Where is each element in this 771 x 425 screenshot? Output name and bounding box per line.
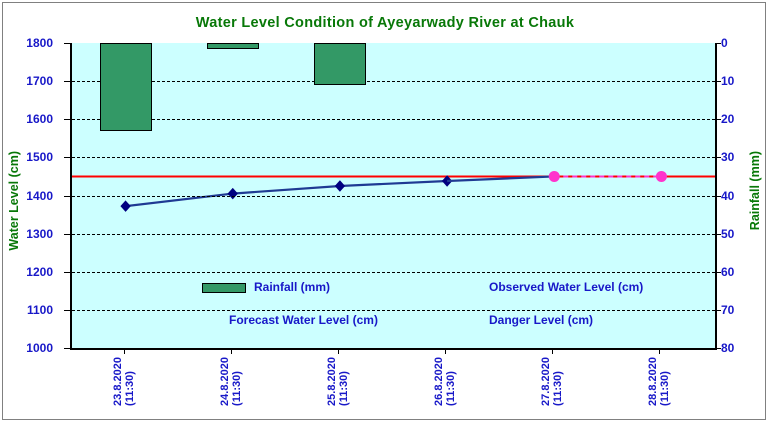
chart-title: Water Level Condition of Ayeyarwady Rive… (3, 15, 767, 31)
x-axis-tick-date: 27.8.2020 (540, 357, 552, 406)
right-axis-tick-label: 80 (721, 341, 755, 355)
observed-data-point-marker (335, 181, 344, 191)
gridline (72, 196, 715, 197)
x-axis-tick-label: 28.8.2020(11:30) (647, 357, 671, 406)
observed-data-point-marker (121, 201, 130, 211)
left-axis-tick-label: 1000 (5, 341, 53, 355)
forecast-data-point-marker (549, 171, 560, 182)
right-axis-tick-label: 40 (721, 189, 755, 203)
x-axis-tick-date: 23.8.2020 (112, 357, 124, 406)
gridline (72, 310, 715, 311)
x-axis-tick-time: (11:30) (338, 357, 350, 406)
rainfall-bar (207, 43, 259, 49)
gridline (72, 234, 715, 235)
right-axis-tick-label: 70 (721, 303, 755, 317)
right-axis-tick-label: 10 (721, 74, 755, 88)
left-axis-tick-label: 1200 (5, 265, 53, 279)
right-axis-tick-label: 0 (721, 36, 755, 50)
x-axis-tick-time: (11:30) (445, 357, 457, 406)
x-axis-tick-date: 25.8.2020 (326, 357, 338, 406)
forecast-data-point-marker (656, 171, 667, 182)
x-axis-tick-time: (11:30) (231, 357, 243, 406)
left-axis-tick-label: 1700 (5, 74, 53, 88)
plot-inner: Rainfall (mm)Observed Water Level (cm)Fo… (72, 43, 715, 348)
gridline (72, 272, 715, 273)
x-axis-tick-label: 23.8.2020(11:30) (112, 357, 136, 406)
left-axis-tick-label: 1800 (5, 36, 53, 50)
x-axis-tick-label: 26.8.2020(11:30) (433, 357, 457, 406)
x-axis-tick-time: (11:30) (124, 357, 136, 406)
left-axis-tick-label: 1500 (5, 150, 53, 164)
legend-swatch-rainfall-bar (202, 283, 246, 293)
plot-area: Rainfall (mm)Observed Water Level (cm)Fo… (70, 43, 717, 350)
chart-frame: Water Level Condition of Ayeyarwady Rive… (2, 2, 766, 420)
rainfall-bar (314, 43, 366, 85)
gridline (72, 119, 715, 120)
gridline (72, 157, 715, 158)
observed-water-level-line (126, 181, 448, 206)
gridline (72, 81, 715, 82)
left-axis-tick-label: 1300 (5, 227, 53, 241)
x-axis-tick-date: 28.8.2020 (647, 357, 659, 406)
x-axis-tick-date: 24.8.2020 (219, 357, 231, 406)
left-axis-tick-label: 1400 (5, 189, 53, 203)
legend-item-label: Forecast Water Level (cm) (229, 313, 378, 327)
left-axis-tick-label: 1600 (5, 112, 53, 126)
legend-item-label: Observed Water Level (cm) (489, 280, 643, 294)
x-axis-tick-label: 25.8.2020(11:30) (326, 357, 350, 406)
rainfall-bar (100, 43, 152, 131)
x-axis-tick-label: 27.8.2020(11:30) (540, 357, 564, 406)
right-axis-tick-label: 20 (721, 112, 755, 126)
legend-item-label: Rainfall (mm) (254, 280, 330, 294)
x-axis-tick-label: 24.8.2020(11:30) (219, 357, 243, 406)
right-axis-tick-label: 50 (721, 227, 755, 241)
right-axis-tick-label: 30 (721, 150, 755, 164)
right-axis-tick-label: 60 (721, 265, 755, 279)
x-axis-tick-time: (11:30) (552, 357, 564, 406)
observed-data-point-marker (228, 189, 237, 199)
legend-circle-icon (195, 315, 205, 325)
x-axis-tick-time: (11:30) (659, 357, 671, 406)
x-axis-tick-date: 26.8.2020 (433, 357, 445, 406)
legend-item-label: Danger Level (cm) (489, 313, 593, 327)
left-axis-tick-label: 1100 (5, 303, 53, 317)
